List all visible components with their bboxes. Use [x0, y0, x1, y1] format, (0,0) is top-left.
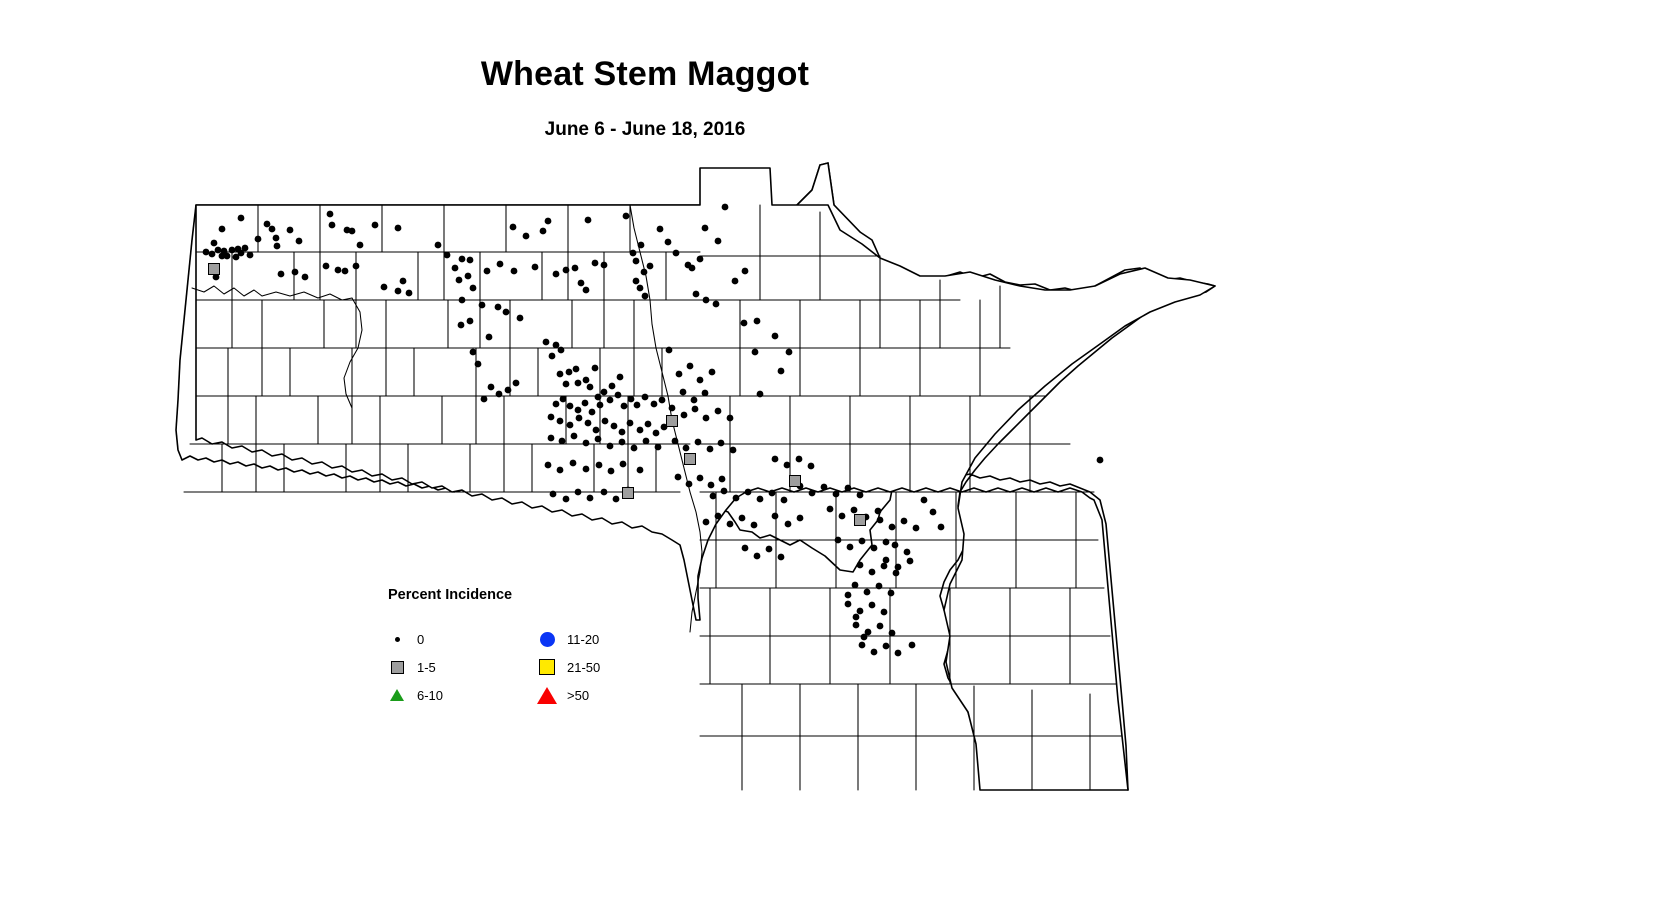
incidence-point-zero — [1097, 457, 1104, 464]
incidence-point-zero — [513, 380, 520, 387]
incidence-point-low — [685, 454, 696, 465]
incidence-point-zero — [889, 630, 896, 637]
incidence-point-zero — [593, 427, 600, 434]
incidence-point-zero — [630, 250, 637, 257]
incidence-point-zero — [557, 371, 564, 378]
incidence-point-zero — [876, 583, 883, 590]
incidence-point-zero — [637, 285, 644, 292]
legend-label-1-5: 1-5 — [417, 660, 436, 675]
incidence-point-zero — [488, 384, 495, 391]
incidence-point-zero — [611, 423, 618, 430]
incidence-point-zero — [857, 608, 864, 615]
incidence-point-zero — [583, 287, 590, 294]
incidence-point-zero — [238, 215, 245, 222]
legend-item-11-20[interactable]: 11-20 — [538, 630, 688, 648]
legend-item-over-50[interactable]: >50 — [538, 686, 688, 704]
incidence-point-zero — [609, 383, 616, 390]
incidence-point-zero — [621, 403, 628, 410]
incidence-point-zero — [913, 525, 920, 532]
incidence-point-zero — [435, 242, 442, 249]
incidence-point-zero — [796, 456, 803, 463]
incidence-point-zero — [847, 544, 854, 551]
incidence-point-zero — [459, 256, 466, 263]
incidence-point-zero — [772, 333, 779, 340]
incidence-point-zero — [496, 391, 503, 398]
incidence-point-zero — [335, 267, 342, 274]
incidence-point-zero — [587, 495, 594, 502]
incidence-point-zero — [233, 254, 240, 261]
incidence-point-zero — [642, 293, 649, 300]
incidence-point-zero — [786, 349, 793, 356]
incidence-point-zero — [406, 290, 413, 297]
incidence-point-zero — [566, 369, 573, 376]
incidence-point-zero — [296, 238, 303, 245]
incidence-point-zero — [643, 438, 650, 445]
incidence-point-zero — [697, 256, 704, 263]
incidence-point-zero — [864, 589, 871, 596]
incidence-point-zero — [211, 240, 218, 247]
incidence-point-zero — [707, 446, 714, 453]
incidence-point-zero — [558, 347, 565, 354]
incidence-point-zero — [575, 407, 582, 414]
incidence-point-zero — [888, 590, 895, 597]
incidence-point-zero — [727, 521, 734, 528]
incidence-point-zero — [517, 315, 524, 322]
incidence-point-zero — [757, 496, 764, 503]
incidence-point-zero — [641, 269, 648, 276]
incidence-point-zero — [400, 278, 407, 285]
incidence-point-zero — [853, 622, 860, 629]
incidence-point-zero — [511, 268, 518, 275]
incidence-point-zero — [769, 490, 776, 497]
incidence-point-zero — [302, 274, 309, 281]
incidence-point-zero — [458, 322, 465, 329]
incidence-point-zero — [617, 374, 624, 381]
incidence-point-zero — [255, 236, 262, 243]
legend-label-6-10: 6-10 — [417, 688, 443, 703]
incidence-point-zero — [669, 405, 676, 412]
incidence-point-zero — [719, 476, 726, 483]
incidence-point-zero — [549, 353, 556, 360]
incidence-point-zero — [559, 438, 566, 445]
incidence-point-zero — [553, 271, 560, 278]
incidence-point-zero — [597, 402, 604, 409]
incidence-point-zero — [563, 496, 570, 503]
incidence-point-zero — [601, 389, 608, 396]
incidence-point-zero — [638, 242, 645, 249]
incidence-point-zero — [342, 268, 349, 275]
incidence-point-zero — [548, 414, 555, 421]
incidence-point-zero — [895, 564, 902, 571]
incidence-point-zero — [634, 402, 641, 409]
incidence-point-zero — [686, 481, 693, 488]
incidence-point-zero — [861, 634, 868, 641]
incidence-point-zero — [229, 247, 236, 254]
incidence-point-zero — [523, 233, 530, 240]
incidence-point-zero — [930, 509, 937, 516]
incidence-point-zero — [875, 508, 882, 515]
incidence-point-low — [209, 264, 220, 275]
incidence-point-zero — [619, 429, 626, 436]
incidence-point-zero — [895, 650, 902, 657]
incidence-point-zero — [785, 521, 792, 528]
incidence-point-zero — [781, 497, 788, 504]
incidence-point-zero — [583, 440, 590, 447]
incidence-point-zero — [576, 415, 583, 422]
incidence-point-zero — [619, 439, 626, 446]
incidence-point-zero — [665, 239, 672, 246]
incidence-point-low — [855, 515, 866, 526]
incidence-point-zero — [708, 482, 715, 489]
incidence-point-zero — [869, 569, 876, 576]
incidence-point-zero — [827, 506, 834, 513]
incidence-point-zero — [567, 403, 574, 410]
incidence-point-zero — [893, 570, 900, 577]
legend-title: Percent Incidence — [388, 587, 648, 603]
incidence-point-zero — [497, 261, 504, 268]
incidence-point-zero — [683, 445, 690, 452]
incidence-point-zero — [550, 491, 557, 498]
incidence-point-zero — [808, 463, 815, 470]
incidence-point-zero — [323, 263, 330, 270]
incidence-point-zero — [219, 253, 226, 260]
incidence-point-zero — [563, 381, 570, 388]
incidence-point-zero — [751, 522, 758, 529]
incidence-point-zero — [881, 609, 888, 616]
incidence-point-zero — [739, 515, 746, 522]
incidence-point-zero — [809, 490, 816, 497]
incidence-point-zero — [613, 496, 620, 503]
incidence-point-zero — [672, 438, 679, 445]
legend-label-21-50: 21-50 — [567, 660, 600, 675]
incidence-point-zero — [592, 365, 599, 372]
incidence-point-zero — [871, 649, 878, 656]
legend-label-0: 0 — [417, 632, 424, 647]
incidence-point-zero — [907, 558, 914, 565]
incidence-point-zero — [853, 614, 860, 621]
incidence-point-zero — [381, 284, 388, 291]
gray-square-icon — [388, 658, 406, 676]
incidence-point-zero — [839, 513, 846, 520]
incidence-point-zero — [772, 513, 779, 520]
incidence-point-zero — [607, 397, 614, 404]
incidence-point-zero — [287, 227, 294, 234]
incidence-point-zero — [889, 524, 896, 531]
incidence-point-zero — [486, 334, 493, 341]
incidence-point-zero — [745, 489, 752, 496]
incidence-point-low — [667, 416, 678, 427]
incidence-point-zero — [676, 371, 683, 378]
incidence-point-zero — [754, 553, 761, 560]
incidence-point-zero — [274, 243, 281, 250]
red-triangle-icon — [538, 686, 556, 704]
incidence-point-zero — [540, 228, 547, 235]
incidence-point-zero — [292, 269, 299, 276]
incidence-point-zero — [247, 252, 254, 259]
incidence-point-zero — [242, 245, 249, 252]
incidence-point-zero — [901, 518, 908, 525]
incidence-point-zero — [444, 252, 451, 259]
incidence-point-zero — [845, 485, 852, 492]
incidence-point-zero — [495, 304, 502, 311]
incidence-point-zero — [721, 488, 728, 495]
incidence-point-zero — [784, 462, 791, 469]
incidence-point-zero — [693, 291, 700, 298]
incidence-point-zero — [557, 418, 564, 425]
incidence-point-zero — [722, 204, 729, 211]
incidence-point-zero — [883, 539, 890, 546]
incidence-point-zero — [481, 396, 488, 403]
incidence-point-zero — [691, 397, 698, 404]
incidence-point-zero — [881, 563, 888, 570]
incidence-point-zero — [582, 400, 589, 407]
incidence-point-zero — [637, 427, 644, 434]
incidence-point-zero — [327, 211, 334, 218]
map-legend: Percent Incidence 0 11-20 1-5 21-50 6-10 — [388, 587, 648, 709]
small-black-dot-icon — [388, 630, 406, 648]
incidence-point-zero — [329, 222, 336, 229]
incidence-point-zero — [732, 278, 739, 285]
incidence-point-zero — [395, 225, 402, 232]
incidence-point-zero — [543, 339, 550, 346]
incidence-point-zero — [845, 592, 852, 599]
incidence-point-zero — [567, 422, 574, 429]
legend-item-21-50[interactable]: 21-50 — [538, 658, 688, 676]
incidence-point-zero — [592, 260, 599, 267]
incidence-point-zero — [557, 467, 564, 474]
map-canvas — [0, 0, 1673, 900]
incidence-point-zero — [627, 420, 634, 427]
incidence-point-zero — [675, 474, 682, 481]
incidence-point-zero — [575, 489, 582, 496]
incidence-point-low — [790, 476, 801, 487]
incidence-point-zero — [553, 401, 560, 408]
incidence-point-zero — [602, 418, 609, 425]
incidence-point-low — [623, 488, 634, 499]
incidence-point-zero — [718, 440, 725, 447]
legend-grid: 0 11-20 1-5 21-50 6-10 >50 — [388, 625, 648, 709]
incidence-point-zero — [909, 642, 916, 649]
legend-label-over-50: >50 — [567, 688, 589, 703]
incidence-point-zero — [395, 288, 402, 295]
incidence-point-zero — [484, 268, 491, 275]
incidence-point-zero — [607, 443, 614, 450]
incidence-point-zero — [703, 519, 710, 526]
incidence-point-zero — [835, 537, 842, 544]
incidence-point-zero — [697, 475, 704, 482]
legend-item-6-10[interactable]: 6-10 — [388, 686, 538, 704]
incidence-point-zero — [778, 368, 785, 375]
incidence-point-zero — [545, 462, 552, 469]
incidence-point-zero — [456, 277, 463, 284]
incidence-point-zero — [553, 342, 560, 349]
incidence-point-zero — [727, 415, 734, 422]
incidence-point-zero — [633, 278, 640, 285]
incidence-point-zero — [467, 257, 474, 264]
incidence-point-zero — [215, 247, 222, 254]
incidence-point-zero — [631, 445, 638, 452]
incidence-point-zero — [349, 228, 356, 235]
legend-label-11-20: 11-20 — [567, 632, 599, 647]
incidence-point-zero — [859, 538, 866, 545]
incidence-point-zero — [585, 420, 592, 427]
incidence-point-zero — [659, 397, 666, 404]
incidence-point-zero — [503, 309, 510, 316]
incidence-point-zero — [532, 264, 539, 271]
incidence-point-zero — [585, 217, 592, 224]
incidence-point-zero — [219, 226, 226, 233]
incidence-point-zero — [637, 467, 644, 474]
incidence-point-zero — [681, 412, 688, 419]
incidence-point-zero — [273, 235, 280, 242]
incidence-point-zero — [278, 271, 285, 278]
incidence-point-zero — [833, 491, 840, 498]
incidence-point-zero — [269, 226, 276, 233]
incidence-point-zero — [883, 643, 890, 650]
incidence-point-zero — [877, 517, 884, 524]
incidence-point-zero — [633, 258, 640, 265]
incidence-point-zero — [703, 297, 710, 304]
incidence-point-zero — [821, 484, 828, 491]
incidence-point-zero — [921, 497, 928, 504]
incidence-point-zero — [505, 387, 512, 394]
incidence-point-zero — [560, 396, 567, 403]
incidence-point-zero — [859, 642, 866, 649]
state-boundaries — [196, 168, 1215, 790]
incidence-point-zero — [869, 602, 876, 609]
incidence-point-zero — [715, 238, 722, 245]
incidence-point-zero — [655, 444, 662, 451]
incidence-point-zero — [572, 265, 579, 272]
legend-item-0[interactable]: 0 — [388, 630, 538, 648]
incidence-point-zero — [766, 546, 773, 553]
incidence-point-zero — [589, 409, 596, 416]
incidence-point-zero — [452, 265, 459, 272]
incidence-point-zero — [645, 421, 652, 428]
incidence-point-zero — [703, 415, 710, 422]
incidence-point-zero — [772, 456, 779, 463]
incidence-point-zero — [702, 390, 709, 397]
incidence-point-zero — [595, 394, 602, 401]
incidence-point-zero — [357, 242, 364, 249]
incidence-point-zero — [595, 436, 602, 443]
green-triangle-icon — [388, 686, 406, 704]
incidence-point-zero — [647, 263, 654, 270]
incidence-point-zero — [710, 493, 717, 500]
incidence-point-zero — [702, 225, 709, 232]
incidence-point-zero — [757, 391, 764, 398]
incidence-point-zero — [742, 268, 749, 275]
incidence-point-zero — [264, 221, 271, 228]
incidence-point-zero — [601, 262, 608, 269]
incidence-point-zero — [877, 623, 884, 630]
incidence-point-zero — [548, 435, 555, 442]
yellow-square-icon — [538, 658, 556, 676]
incidence-point-zero — [845, 601, 852, 608]
incidence-point-zero — [715, 408, 722, 415]
incidence-point-zero — [871, 545, 878, 552]
incidence-point-zero — [883, 557, 890, 564]
incidence-point-zero — [596, 462, 603, 469]
incidence-point-zero — [715, 513, 722, 520]
incidence-point-zero — [620, 461, 627, 468]
incidence-point-zero — [892, 542, 899, 549]
incidence-point-zero — [642, 394, 649, 401]
incidence-point-zero — [615, 392, 622, 399]
survey-map-svg — [0, 0, 1673, 900]
incidence-point-zero — [673, 250, 680, 257]
incidence-point-zero — [680, 389, 687, 396]
incidence-point-zero — [563, 267, 570, 274]
incidence-point-zero — [687, 363, 694, 370]
incidence-point-zero — [689, 265, 696, 272]
incidence-point-zero — [653, 430, 660, 437]
incidence-point-zero — [467, 318, 474, 325]
incidence-point-zero — [697, 377, 704, 384]
incidence-point-zero — [545, 218, 552, 225]
incidence-point-zero — [713, 301, 720, 308]
incidence-point-zero — [852, 582, 859, 589]
incidence-point-zero — [587, 384, 594, 391]
incidence-point-zero — [583, 466, 590, 473]
incidence-point-zero — [692, 406, 699, 413]
incidence-point-zero — [601, 489, 608, 496]
incidence-point-zero — [778, 554, 785, 561]
incidence-point-zero — [666, 347, 673, 354]
incidence-point-zero — [623, 213, 630, 220]
incidence-point-zero — [573, 366, 580, 373]
incidence-point-zero — [578, 280, 585, 287]
incidence-point-zero — [733, 495, 740, 502]
blue-circle-icon — [538, 630, 556, 648]
map-page: Wheat Stem Maggot June 6 - June 18, 2016 — [0, 0, 1673, 900]
incidence-point-zero — [475, 361, 482, 368]
incidence-point-zero — [608, 468, 615, 475]
incidence-point-zero — [730, 447, 737, 454]
incidence-point-zero — [510, 224, 517, 231]
incidence-point-zero — [628, 396, 635, 403]
incidence-point-zero — [797, 515, 804, 522]
legend-item-1-5[interactable]: 1-5 — [388, 658, 538, 676]
incidence-point-zero — [575, 380, 582, 387]
incidence-point-zero — [372, 222, 379, 229]
incidence-point-zero — [583, 377, 590, 384]
incidence-point-zero — [353, 263, 360, 270]
incidence-point-zero — [203, 249, 210, 256]
incidence-point-zero — [459, 297, 466, 304]
incidence-point-zero — [752, 349, 759, 356]
incidence-point-zero — [741, 320, 748, 327]
incidence-point-zero — [709, 369, 716, 376]
incidence-point-zero — [938, 524, 945, 531]
incidence-point-zero — [742, 545, 749, 552]
incidence-point-zero — [571, 433, 578, 440]
incidence-point-zero — [570, 460, 577, 467]
incidence-point-zero — [209, 251, 216, 258]
incidence-point-zero — [470, 285, 477, 292]
incidence-point-zero — [857, 562, 864, 569]
incidence-point-zero — [470, 349, 477, 356]
incidence-point-zero — [651, 401, 658, 408]
incidence-point-zero — [479, 302, 486, 309]
incidence-point-zero — [857, 492, 864, 499]
incidence-point-zero — [657, 226, 664, 233]
incidence-point-zero — [904, 549, 911, 556]
incidence-point-zero — [851, 507, 858, 514]
incidence-point-zero — [695, 439, 702, 446]
incidence-point-zero — [754, 318, 761, 325]
incidence-point-zero — [465, 273, 472, 280]
